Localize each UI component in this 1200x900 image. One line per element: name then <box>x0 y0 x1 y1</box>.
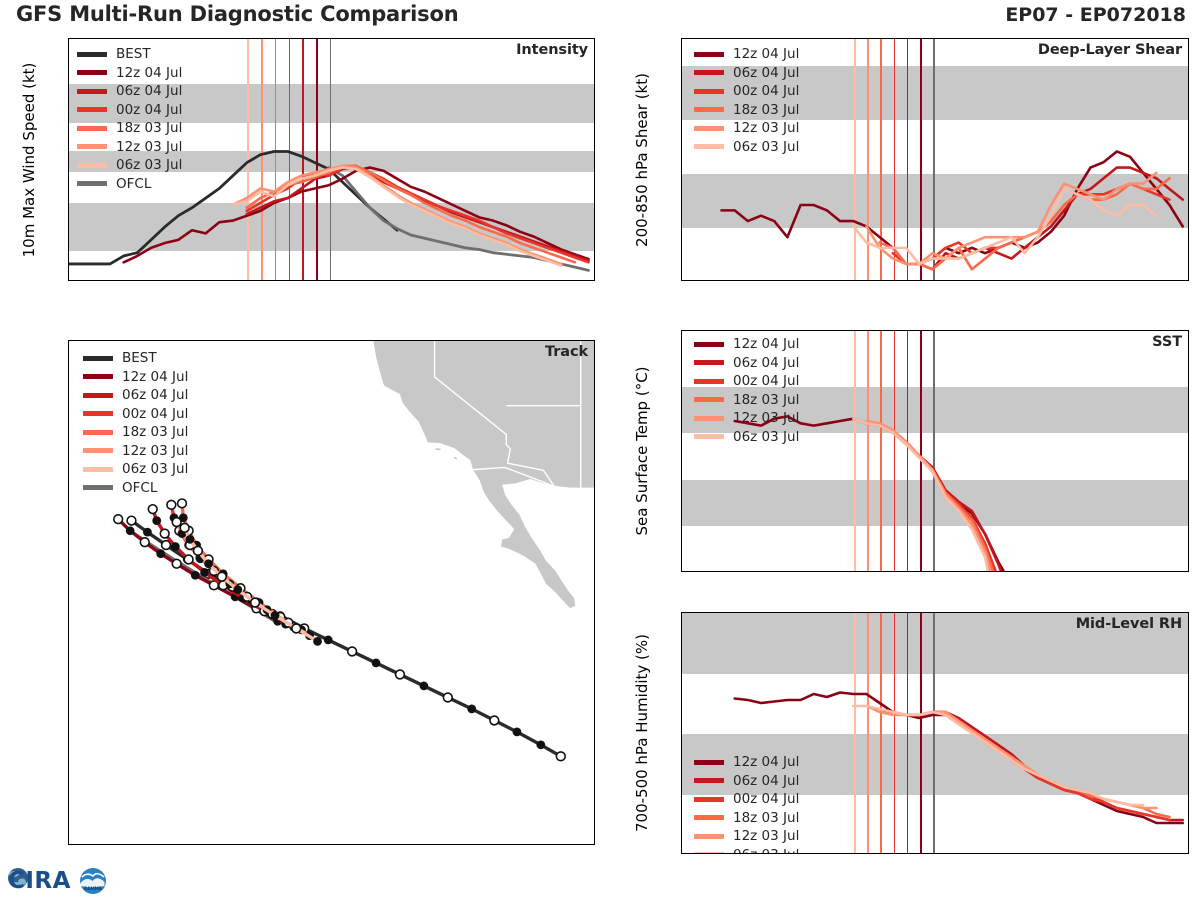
legend-item-06z-03-jul[interactable]: 06z 03 Jul <box>77 156 182 175</box>
track-marker-fill <box>143 528 152 537</box>
legend-swatch-icon <box>77 181 107 186</box>
legend-swatch-icon <box>77 89 107 94</box>
intensity-xminor <box>151 280 152 281</box>
legend-swatch-icon <box>694 379 724 384</box>
sst-xtick <box>1158 571 1159 572</box>
legend-item-00z-04-jul[interactable]: 00z 04 Jul <box>694 82 799 101</box>
rh-xtick <box>1052 853 1053 854</box>
series-rh-12z-04-jul <box>735 692 1183 823</box>
track-marker-fill <box>200 568 209 577</box>
rh-xminor <box>1078 853 1079 854</box>
sst-xtick <box>946 571 947 572</box>
legend-swatch-icon <box>77 52 107 57</box>
track-legend: BEST12z 04 Jul06z 04 Jul00z 04 Jul18z 03… <box>83 349 188 497</box>
intensity-panel-title: Intensity <box>516 42 588 58</box>
legend-label: 00z 04 Jul <box>733 791 799 807</box>
track-marker-open <box>194 546 203 555</box>
legend-item-06z-03-jul[interactable]: 06z 03 Jul <box>83 460 188 479</box>
shear-xtick <box>946 280 947 281</box>
legend-label: 12z 04 Jul <box>733 46 799 62</box>
legend-label: BEST <box>116 46 151 62</box>
legend-label: 00z 04 Jul <box>122 406 188 422</box>
rh-xtick <box>893 853 894 854</box>
rh-xtick <box>999 853 1000 854</box>
intensity-xtick <box>507 280 508 281</box>
intensity-xminor <box>206 280 207 281</box>
rh-xminor <box>708 853 709 854</box>
legend-swatch-icon <box>77 163 107 168</box>
legend-swatch-icon <box>83 411 113 416</box>
track-marker-open <box>178 499 187 508</box>
sst-xtick <box>840 571 841 572</box>
legend-label: 06z 04 Jul <box>733 773 799 789</box>
track-panel-title: Track <box>545 344 588 360</box>
legend-label: OFCL <box>116 176 151 192</box>
series-rh-06z-03-jul <box>853 706 1143 805</box>
series-sst-18z-03-jul <box>880 423 993 571</box>
legend-label: 06z 03 Jul <box>116 157 182 173</box>
sst-xminor <box>1078 571 1079 572</box>
sst-xminor <box>814 571 815 572</box>
legend-item-12z-04-jul[interactable]: 12z 04 Jul <box>694 753 799 772</box>
legend-label: 06z 04 Jul <box>122 387 188 403</box>
page-title: GFS Multi-Run Diagnostic Comparison <box>16 2 458 26</box>
legend-item-06z-04-jul[interactable]: 06z 04 Jul <box>694 64 799 83</box>
shear-xminor <box>920 280 921 281</box>
series-shear-00z-04-jul <box>893 184 1170 264</box>
panel-rh: 2040608010030Jun00z01Jul00z02Jul00z03Jul… <box>681 612 1189 854</box>
track-marker-open <box>490 716 499 725</box>
legend-item-00z-04-jul[interactable]: 00z 04 Jul <box>83 405 188 424</box>
legend-item-06z-04-jul[interactable]: 06z 04 Jul <box>77 82 182 101</box>
legend-swatch-icon <box>83 430 113 435</box>
rh-xminor <box>920 853 921 854</box>
legend-item-06z-03-jul[interactable]: 06z 03 Jul <box>694 846 799 855</box>
track-marker-fill <box>313 637 322 646</box>
legend-swatch-icon <box>694 70 724 75</box>
sst-xminor <box>972 571 973 572</box>
track-marker-fill <box>324 636 333 645</box>
legend-item-00z-04-jul[interactable]: 00z 04 Jul <box>694 790 799 809</box>
panel-intensity: 2040608010012014016030Jun00z01Jul00z02Ju… <box>68 38 595 281</box>
legend-label: 06z 03 Jul <box>122 461 188 477</box>
legend-swatch-icon <box>694 107 724 112</box>
track-xtick <box>502 844 503 845</box>
legend-label: 12z 04 Jul <box>122 369 188 385</box>
cira-logo: CIRA RAMMB <box>4 858 108 898</box>
track-xtick <box>368 844 369 845</box>
track-marker-open <box>172 559 181 568</box>
shear-xminor <box>972 280 973 281</box>
track-marker-open <box>217 572 226 581</box>
legend-label: 06z 03 Jul <box>733 847 799 854</box>
intensity-xtick <box>453 280 454 281</box>
legend-swatch-icon <box>694 815 724 820</box>
track-marker-fill <box>126 526 135 535</box>
series-intensity-12z-03-jul <box>233 166 561 264</box>
track-marker-fill <box>372 659 381 668</box>
rh-xminor <box>1025 853 1026 854</box>
svg-text:RAMMB: RAMMB <box>84 886 102 891</box>
intensity-xminor <box>590 280 591 281</box>
shear-xtick <box>893 280 894 281</box>
track-marker-fill <box>171 542 180 551</box>
panel-shear: 01020304030Jun00z01Jul00z02Jul00z03Jul00… <box>681 38 1189 281</box>
legend-item-12z-04-jul[interactable]: 12z 04 Jul <box>83 368 188 387</box>
track-marker-open <box>172 518 181 527</box>
track-marker-fill <box>152 516 161 525</box>
series-shear-12z-04-jul <box>722 151 1183 263</box>
legend-label: 12z 03 Jul <box>733 120 799 136</box>
legend-swatch-icon <box>83 467 113 472</box>
track-marker-fill <box>536 740 545 749</box>
shear-xtick <box>787 280 788 281</box>
legend-item-06z-03-jul[interactable]: 06z 03 Jul <box>694 428 799 447</box>
rh-xtick <box>787 853 788 854</box>
shear-y-axis-label: 200-850 hPa Shear (kt) <box>633 73 651 247</box>
shear-xtick <box>840 280 841 281</box>
legend-label: 12z 03 Jul <box>122 443 188 459</box>
sst-xminor <box>867 571 868 572</box>
legend-swatch-icon <box>83 448 113 453</box>
track-marker-fill <box>233 585 242 594</box>
rh-xtick <box>1158 853 1159 854</box>
legend-item-00z-04-jul[interactable]: 00z 04 Jul <box>694 372 799 391</box>
legend-swatch-icon <box>83 356 113 361</box>
legend-swatch-icon <box>694 52 724 57</box>
legend-swatch-icon <box>694 834 724 839</box>
shear-xminor <box>1025 280 1026 281</box>
series-intensity-06z-03-jul <box>233 168 561 266</box>
legend-item-18z-03-jul[interactable]: 18z 03 Jul <box>83 423 188 442</box>
intensity-plot-area: 2040608010012014016030Jun00z01Jul00z02Ju… <box>68 38 595 281</box>
legend-item-12z-04-jul[interactable]: 12z 04 Jul <box>694 335 799 354</box>
track-marker-open <box>396 670 405 679</box>
legend-label: BEST <box>122 350 157 366</box>
legend-label: 06z 03 Jul <box>733 429 799 445</box>
track-marker-fill <box>191 571 200 580</box>
legend-swatch-icon <box>77 126 107 131</box>
rh-xtick <box>681 853 682 854</box>
shear-legend: 12z 04 Jul06z 04 Jul00z 04 Jul18z 03 Jul… <box>694 45 799 156</box>
legend-label: 00z 04 Jul <box>116 102 182 118</box>
track-xtick <box>168 844 169 845</box>
rh-xtick <box>1105 853 1106 854</box>
series-shear-12z-03-jul <box>866 173 1156 264</box>
track-marker-open <box>348 647 357 656</box>
intensity-xtick <box>68 280 69 281</box>
track-marker-fill <box>271 611 280 620</box>
intensity-xtick <box>288 280 289 281</box>
legend-item-06z-03-jul[interactable]: 06z 03 Jul <box>694 138 799 157</box>
sst-xtick <box>681 571 682 572</box>
intensity-xtick <box>398 280 399 281</box>
legend-item-18z-03-jul[interactable]: 18z 03 Jul <box>77 119 182 138</box>
shear-xminor <box>1184 280 1185 281</box>
legend-item-12z-03-jul[interactable]: 12z 03 Jul <box>694 409 799 428</box>
sst-xtick <box>1052 571 1053 572</box>
rh-plot-area: 2040608010030Jun00z01Jul00z02Jul00z03Jul… <box>681 612 1189 854</box>
track-marker-open <box>251 598 260 607</box>
track-marker-open <box>167 500 176 509</box>
shear-xminor <box>814 280 815 281</box>
track-map-area: 10°N15°N20°N25°N30°N35°N40°N145°W140°W13… <box>68 340 595 845</box>
legend-swatch-icon <box>694 342 724 347</box>
panel-track: 10°N15°N20°N25°N30°N35°N40°N145°W140°W13… <box>68 340 595 845</box>
legend-label: 12z 04 Jul <box>733 336 799 352</box>
shear-panel-title: Deep-Layer Shear <box>1038 42 1182 58</box>
legend-swatch-icon <box>77 144 107 149</box>
sst-plot-area: 22242628303230Jun00z01Jul00z02Jul00z03Ju… <box>681 330 1189 572</box>
rh-panel-title: Mid-Level RH <box>1076 616 1182 632</box>
sst-xminor <box>1131 571 1132 572</box>
legend-swatch-icon <box>83 485 113 490</box>
track-marker-fill <box>156 549 165 558</box>
track-marker-open <box>443 693 452 702</box>
legend-label: 06z 04 Jul <box>116 83 182 99</box>
legend-swatch-icon <box>694 89 724 94</box>
legend-item-18z-03-jul[interactable]: 18z 03 Jul <box>694 391 799 410</box>
legend-label: 12z 03 Jul <box>116 139 182 155</box>
legend-swatch-icon <box>694 397 724 402</box>
track-marker-open <box>162 541 171 550</box>
intensity-xminor <box>315 280 316 281</box>
intensity-xminor <box>370 280 371 281</box>
intensity-xminor <box>425 280 426 281</box>
shear-xminor <box>708 280 709 281</box>
legend-label: 12z 04 Jul <box>116 65 182 81</box>
track-marker-open <box>148 505 157 514</box>
series-sst-06z-03-jul <box>853 419 987 571</box>
series-shear-18z-03-jul <box>880 178 1170 269</box>
rh-y-axis-label: 700-500 hPa Humidity (%) <box>633 634 651 832</box>
shear-xtick <box>1158 280 1159 281</box>
legend-swatch-icon <box>83 393 113 398</box>
shear-plot-area: 01020304030Jun00z01Jul00z02Jul00z03Jul00… <box>681 38 1189 281</box>
storm-id-title: EP07 - EP072018 <box>1005 4 1186 26</box>
legend-swatch-icon <box>77 107 107 112</box>
track-xtick <box>435 844 436 845</box>
legend-swatch-icon <box>83 374 113 379</box>
shear-xminor <box>867 280 868 281</box>
track-marker-open <box>114 515 123 524</box>
legend-label: 06z 04 Jul <box>733 355 799 371</box>
rh-xminor <box>1184 853 1185 854</box>
legend-item-06z-04-jul[interactable]: 06z 04 Jul <box>694 354 799 373</box>
track-line-00z-04-jul <box>171 505 293 627</box>
sst-xminor <box>761 571 762 572</box>
track-marker-fill <box>419 682 428 691</box>
legend-swatch-icon <box>694 852 724 854</box>
sst-xtick <box>787 571 788 572</box>
legend-swatch-icon <box>694 434 724 439</box>
sst-xminor <box>708 571 709 572</box>
legend-swatch-icon <box>694 144 724 149</box>
track-marker-fill <box>513 728 522 737</box>
legend-label: 00z 04 Jul <box>733 373 799 389</box>
series-sst-12z-03-jul <box>866 421 990 571</box>
rh-xminor <box>867 853 868 854</box>
legend-swatch-icon <box>694 797 724 802</box>
legend-item-12z-03-jul[interactable]: 12z 03 Jul <box>83 442 188 461</box>
intensity-xtick <box>233 280 234 281</box>
legend-label: 12z 04 Jul <box>733 754 799 770</box>
track-marker-open <box>140 538 149 547</box>
shear-xminor <box>1131 280 1132 281</box>
rh-xtick <box>946 853 947 854</box>
sst-xtick <box>893 571 894 572</box>
shear-xminor <box>1078 280 1079 281</box>
intensity-xtick <box>562 280 563 281</box>
track-xtick <box>102 844 103 845</box>
track-marker-open <box>160 529 169 538</box>
legend-item-12z-04-jul[interactable]: 12z 04 Jul <box>77 64 182 83</box>
legend-label: 06z 04 Jul <box>733 65 799 81</box>
rh-xminor <box>814 853 815 854</box>
legend-item-12z-03-jul[interactable]: 12z 03 Jul <box>694 827 799 846</box>
track-marker-open <box>127 516 136 525</box>
legend-item-ofcl[interactable]: OFCL <box>77 175 182 194</box>
sst-panel-title: SST <box>1152 334 1182 350</box>
track-marker-open <box>556 752 565 761</box>
track-xtick <box>235 844 236 845</box>
track-marker-open <box>184 555 193 564</box>
sst-xtick <box>1105 571 1106 572</box>
intensity-xtick <box>123 280 124 281</box>
legend-label: 18z 03 Jul <box>733 102 799 118</box>
shear-xminor <box>761 280 762 281</box>
sst-xtick <box>999 571 1000 572</box>
legend-label: 06z 03 Jul <box>733 139 799 155</box>
sst-xtick <box>734 571 735 572</box>
legend-swatch-icon <box>694 360 724 365</box>
svg-text:CIRA: CIRA <box>8 868 71 894</box>
sst-legend: 12z 04 Jul06z 04 Jul00z 04 Jul18z 03 Jul… <box>694 335 799 446</box>
legend-item-12z-03-jul[interactable]: 12z 03 Jul <box>77 138 182 157</box>
legend-item-12z-04-jul[interactable]: 12z 04 Jul <box>694 45 799 64</box>
legend-swatch-icon <box>694 760 724 765</box>
landmass-polygon <box>454 457 457 460</box>
rh-xminor <box>761 853 762 854</box>
legend-label: 00z 04 Jul <box>733 83 799 99</box>
legend-item-18z-03-jul[interactable]: 18z 03 Jul <box>694 101 799 120</box>
legend-item-00z-04-jul[interactable]: 00z 04 Jul <box>77 101 182 120</box>
rh-xtick <box>734 853 735 854</box>
legend-label: 18z 03 Jul <box>733 392 799 408</box>
track-marker-fill <box>186 535 195 544</box>
panel-sst: 22242628303230Jun00z01Jul00z02Jul00z03Ju… <box>681 330 1189 572</box>
rh-legend: 12z 04 Jul06z 04 Jul00z 04 Jul18z 03 Jul… <box>694 753 799 854</box>
intensity-xtick <box>343 280 344 281</box>
shear-xtick <box>681 280 682 281</box>
intensity-xminor <box>535 280 536 281</box>
shear-xtick <box>1105 280 1106 281</box>
shear-xtick <box>999 280 1000 281</box>
track-marker-fill <box>204 559 213 568</box>
legend-label: OFCL <box>122 480 157 496</box>
page-header: GFS Multi-Run Diagnostic Comparison EP07… <box>0 0 1200 30</box>
series-rh-12z-03-jul <box>866 706 1156 808</box>
track-xtick <box>569 844 570 845</box>
sst-xminor <box>920 571 921 572</box>
landmass-polygon <box>435 448 442 450</box>
track-marker-fill <box>467 705 476 714</box>
legend-swatch-icon <box>694 778 724 783</box>
legend-item-18z-03-jul[interactable]: 18z 03 Jul <box>694 809 799 828</box>
legend-label: 18z 03 Jul <box>116 120 182 136</box>
intensity-xminor <box>96 280 97 281</box>
legend-label: 18z 03 Jul <box>733 810 799 826</box>
legend-label: 12z 03 Jul <box>733 828 799 844</box>
track-marker-open <box>292 624 301 633</box>
legend-swatch-icon <box>694 416 724 421</box>
sst-y-axis-label: Sea Surface Temp (°C) <box>633 366 651 535</box>
legend-item-06z-04-jul[interactable]: 06z 04 Jul <box>83 386 188 405</box>
legend-item-best[interactable]: BEST <box>77 45 182 64</box>
sst-xminor <box>1025 571 1026 572</box>
legend-item-12z-03-jul[interactable]: 12z 03 Jul <box>694 119 799 138</box>
intensity-xminor <box>480 280 481 281</box>
legend-item-best[interactable]: BEST <box>83 349 188 368</box>
shear-xtick <box>1052 280 1053 281</box>
track-xtick <box>302 844 303 845</box>
legend-label: 18z 03 Jul <box>122 424 188 440</box>
legend-label: 12z 03 Jul <box>733 410 799 426</box>
shear-xtick <box>734 280 735 281</box>
intensity-legend: BEST12z 04 Jul06z 04 Jul00z 04 Jul18z 03… <box>77 45 182 193</box>
legend-item-06z-04-jul[interactable]: 06z 04 Jul <box>694 772 799 791</box>
rh-xminor <box>1131 853 1132 854</box>
sst-xminor <box>1184 571 1185 572</box>
track-marker-open <box>180 523 189 532</box>
legend-swatch-icon <box>694 126 724 131</box>
intensity-y-axis-label: 10m Max Wind Speed (kt) <box>20 62 38 257</box>
intensity-xminor <box>261 280 262 281</box>
landmass-polygon <box>373 341 594 608</box>
series-shear-06z-03-jul <box>853 189 1156 264</box>
legend-swatch-icon <box>77 70 107 75</box>
intensity-xtick <box>178 280 179 281</box>
rh-xminor <box>972 853 973 854</box>
rh-xtick <box>840 853 841 854</box>
legend-item-ofcl[interactable]: OFCL <box>83 479 188 498</box>
